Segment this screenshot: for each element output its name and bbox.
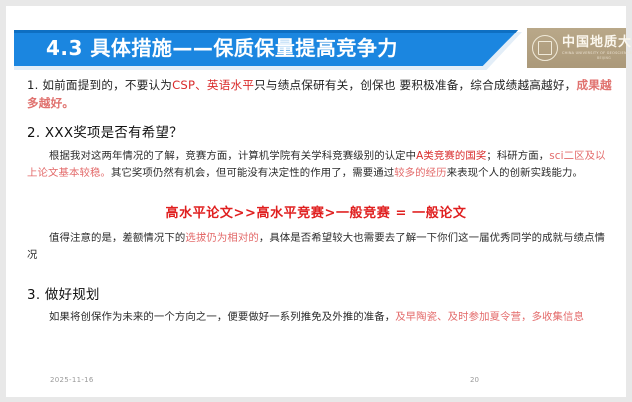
item1-highlight-csp: CSP、英语水平 [172,78,254,92]
footer-page-number: 20 [470,376,479,384]
bullet-item-3-body: 如果将创保作为未来的一个方向之一，便要做好一系列推免及外推的准备，及早陶瓷、及时… [27,309,613,326]
footer-date: 2025-11-16 [50,376,94,384]
item2-highlight-experience: 较多的经历 [394,167,446,179]
university-seal-icon [532,35,558,61]
slide-footer: 2025-11-16 20 [0,376,632,390]
item2-note-a: 值得注意的是，差额情况下的 [27,232,185,244]
item2-body-d: 来表现个人的创新实践能力。 [447,167,583,179]
bullet-item-3-heading: 3. 做好规划 [27,286,613,305]
university-name-cn: 中国地质大学 [562,36,632,49]
university-logo: 中国地质大学 CHINA UNIVERSITY OF GEOSCIENCES B… [527,28,626,68]
item1-middle-text: 只与绩点保研有关，创保也 要积极准备，综合成绩越高越好， [254,78,576,92]
item2-highlight-a-class: A类竞赛的国奖 [416,150,486,162]
bullet-item-1: 1. 如前面提到的，不要认为CSP、英语水平只与绩点保研有关，创保也 要积极准备… [27,76,613,112]
item1-lead-text: 1. 如前面提到的，不要认为 [27,78,172,92]
slide-header: 4.3 具体措施——保质保量提高竞争力 中国地质大学 CHINA UNIVERS… [0,20,632,76]
slide-border-bottom [0,397,632,402]
item2-body-c: 其它奖项仍然有机会，但可能没有决定性的作用了，需要通过 [111,167,394,179]
emphasis-ranking-line: 高水平论文>>高水平竞赛>一般竞赛 = 一般论文 [0,202,632,221]
item2-body-b: ；科研方面， [486,150,549,162]
item3-highlight-plan: 及早陶瓷、及时参加夏令营，多收集信息 [395,311,584,323]
bullet-item-2-body: 根据我对这两年情况的了解，竞赛方面，计算机学院有关学科竞赛级别的认定中A类竞赛的… [27,148,613,182]
university-name-en: CHINA UNIVERSITY OF GEOSCIENCES [562,52,632,55]
slide-canvas: 4.3 具体措施——保质保量提高竞争力 中国地质大学 CHINA UNIVERS… [0,0,632,402]
item2-highlight-selection: 选拔仍为相对的 [185,232,258,244]
bullet-item-2-note: 值得注意的是，差额情况下的选拔仍为相对的，具体是否希望较大也需要去了解一下你们这… [27,230,613,264]
page-title: 4.3 具体措施——保质保量提高竞争力 [46,31,398,65]
item3-body-a: 如果将创保作为未来的一个方向之一，便要做好一系列推免及外推的准备， [27,311,395,323]
slide-border-top [0,0,632,6]
university-established: BEIJING [562,57,632,60]
university-logo-text: 中国地质大学 CHINA UNIVERSITY OF GEOSCIENCES B… [562,36,632,60]
bullet-item-2-heading: 2. XXX奖项是否有希望？ [27,124,613,143]
item2-body-a: 根据我对这两年情况的了解，竞赛方面，计算机学院有关学科竞赛级别的认定中 [27,150,416,162]
